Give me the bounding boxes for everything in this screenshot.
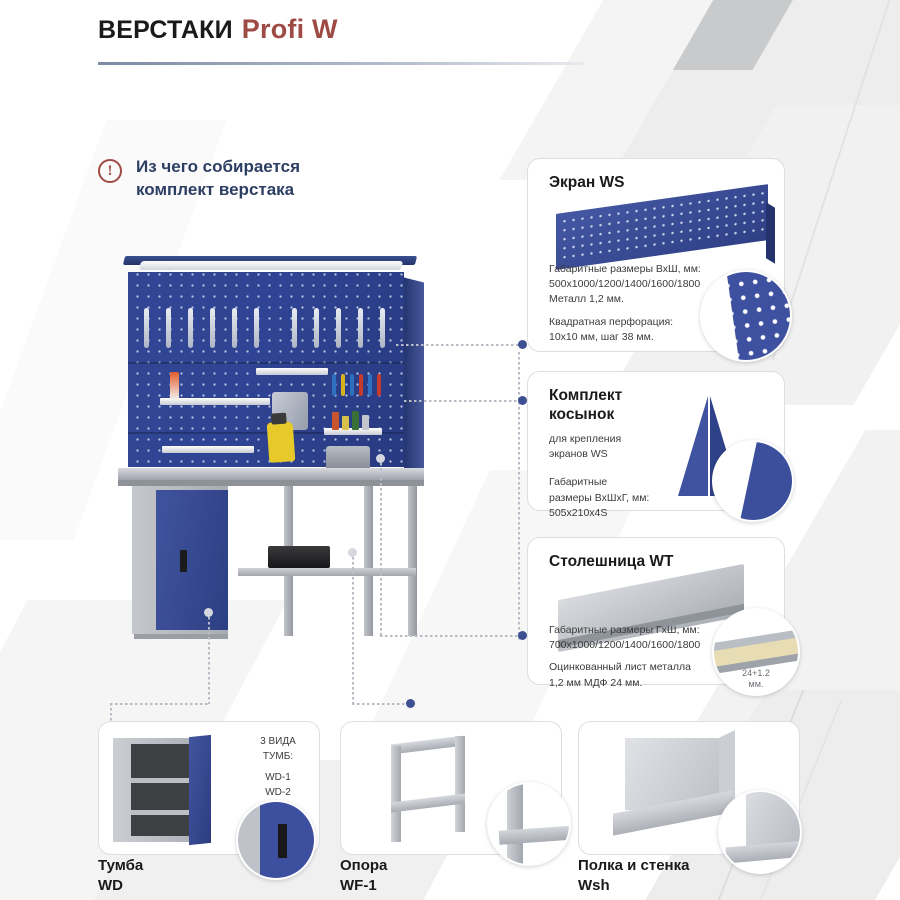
- worktop-detail-magnifier: 24+1.2 мм.: [712, 608, 800, 696]
- bench-lower-shelf: [238, 568, 416, 576]
- shelf-label-line1: Полка и стенка: [578, 856, 689, 876]
- bench-shelf-c: [162, 446, 254, 453]
- cabinet-variant-item: WD-1: [239, 770, 317, 785]
- bench-leg-3: [408, 486, 417, 636]
- screen-detail-magnifier: [700, 270, 792, 362]
- shelf-label: Полка и стенка Wsh: [578, 856, 689, 895]
- page-title-accent: Profi W: [242, 14, 338, 44]
- brackets-spec-dim-value: 505x210x4S: [549, 507, 607, 519]
- brackets-detail-magnifier: [712, 440, 794, 522]
- cabinet-label-line1: Тумба: [98, 856, 143, 876]
- bench-cabinet-base: [134, 634, 228, 639]
- page-title: ВЕРСТАКИProfi W: [98, 14, 338, 45]
- worktop-detail-caption: 24+1.2 мм.: [714, 668, 798, 690]
- connector-node-leg: [406, 699, 415, 708]
- cabinet-variants-title-line1: 3 ВИДА: [239, 734, 317, 749]
- bg-shape-b: [622, 0, 827, 70]
- connector-node-worktop: [518, 631, 527, 640]
- leg-frame-art: [381, 736, 503, 844]
- leg-label-line1: Опора: [340, 856, 387, 876]
- card-worktop-specs: Габаритные размеры ГхШ, мм: 700x1000/120…: [549, 623, 739, 691]
- workbench-illustration: [118, 250, 428, 650]
- worktop-detail-line1: 24+1.2: [714, 668, 798, 679]
- brackets-spec-dim-label1: Габаритные: [549, 476, 607, 488]
- section-heading-text: Из чего собирается комплект верстака: [136, 156, 300, 202]
- connector-node-leg-origin: [348, 548, 357, 557]
- bench-hanging-wrenches: [142, 308, 392, 352]
- bg-shape-c: [499, 0, 730, 180]
- connector-node-cabinet-origin: [204, 608, 213, 617]
- header-divider: [98, 62, 584, 65]
- brackets-title-line1: Комплект: [549, 387, 622, 404]
- bench-panel-side: [404, 278, 424, 479]
- screen-panel-art: [556, 184, 768, 270]
- bench-panel-seam-upper: [128, 362, 404, 364]
- bench-cabinet-door: [156, 490, 228, 630]
- bench-lamp-tube: [139, 261, 403, 270]
- bench-small-bottles: [332, 410, 372, 430]
- card-screen-title: Экран WS: [549, 173, 625, 192]
- screen-spec-perf-label: Квадратная перфорация:: [549, 316, 673, 328]
- connector-cabinet-horz: [110, 703, 210, 705]
- section-heading: ! Из чего собирается комплект верстака: [98, 156, 300, 202]
- bracket-left-art: [678, 396, 708, 496]
- screen-spec-dim-label: Габаритные размеры ВхШ, мм:: [549, 263, 701, 275]
- bench-leg-2: [364, 486, 373, 636]
- brackets-sub-line1: для крепления: [549, 433, 621, 445]
- card-screen-specs: Габаритные размеры ВхШ, мм: 500x1000/120…: [549, 262, 727, 345]
- bench-worktop-surface: [118, 468, 424, 480]
- bench-cordless-drill: [267, 421, 296, 463]
- brackets-spec-dim-label2: размеры ВхШхГ, мм:: [549, 492, 649, 504]
- card-worktop-title: Столешница WT: [549, 552, 673, 571]
- page-header: ВЕРСТАКИProfi W: [98, 14, 338, 45]
- worktop-spec-material2: 1,2 мм МДФ 24 мм.: [549, 677, 642, 689]
- connector-node-screen: [518, 340, 527, 349]
- connector-node-brackets: [518, 396, 527, 405]
- page-title-plain: ВЕРСТАКИ: [98, 16, 233, 44]
- connector-node-worktop-origin: [376, 454, 385, 463]
- bench-pliers-set: [332, 374, 388, 396]
- leg-label-line2: WF-1: [340, 876, 387, 896]
- shelf-detail-magnifier: [718, 790, 802, 874]
- brackets-title-line2: косынок: [549, 406, 614, 423]
- screen-panel-edge-art: [766, 202, 775, 264]
- leg-detail-magnifier: [487, 782, 571, 866]
- worktop-detail-line2: мм.: [714, 679, 798, 690]
- section-heading-line2: комплект верстака: [136, 179, 300, 202]
- cabinet-label-line2: WD: [98, 876, 143, 896]
- cabinet-detail-magnifier: [236, 800, 316, 880]
- worktop-spec-dim-value: 700x1000/1200/1400/1600/1800: [549, 639, 700, 651]
- brackets-sub-line2: экранов WS: [549, 448, 608, 460]
- leg-label: Опора WF-1: [340, 856, 387, 895]
- shelf-label-line2: Wsh: [578, 876, 689, 896]
- cabinet-art: [113, 734, 231, 844]
- card-brackets-specs: для крепления экранов WS Габаритные разм…: [549, 432, 677, 521]
- screen-spec-material: Металл 1,2 мм.: [549, 293, 624, 305]
- cabinet-label: Тумба WD: [98, 856, 143, 895]
- exclamation-circle-icon: !: [98, 159, 122, 183]
- connector-leg-horz: [352, 703, 410, 705]
- bench-shelf-a: [256, 368, 328, 375]
- worktop-spec-dim-label: Габаритные размеры ГхШ, мм:: [549, 624, 700, 636]
- worktop-spec-material1: Оцинкованный лист металла: [549, 661, 691, 673]
- cabinet-variant-item: WD-2: [239, 785, 317, 800]
- bench-tool-case: [268, 546, 330, 568]
- connector-cabinet-drop: [110, 703, 112, 721]
- cabinet-variants-title-line2: ТУМБ:: [239, 749, 317, 764]
- card-brackets-title: Комплект косынок: [549, 386, 622, 425]
- screen-spec-perf-value: 10x10 мм, шаг 38 мм.: [549, 331, 654, 343]
- bench-cabinet-lock: [180, 550, 187, 572]
- screen-spec-dim-value: 500x1000/1200/1400/1600/1800: [549, 278, 700, 290]
- section-heading-line1: Из чего собирается: [136, 156, 300, 179]
- bench-spray-can: [170, 372, 179, 400]
